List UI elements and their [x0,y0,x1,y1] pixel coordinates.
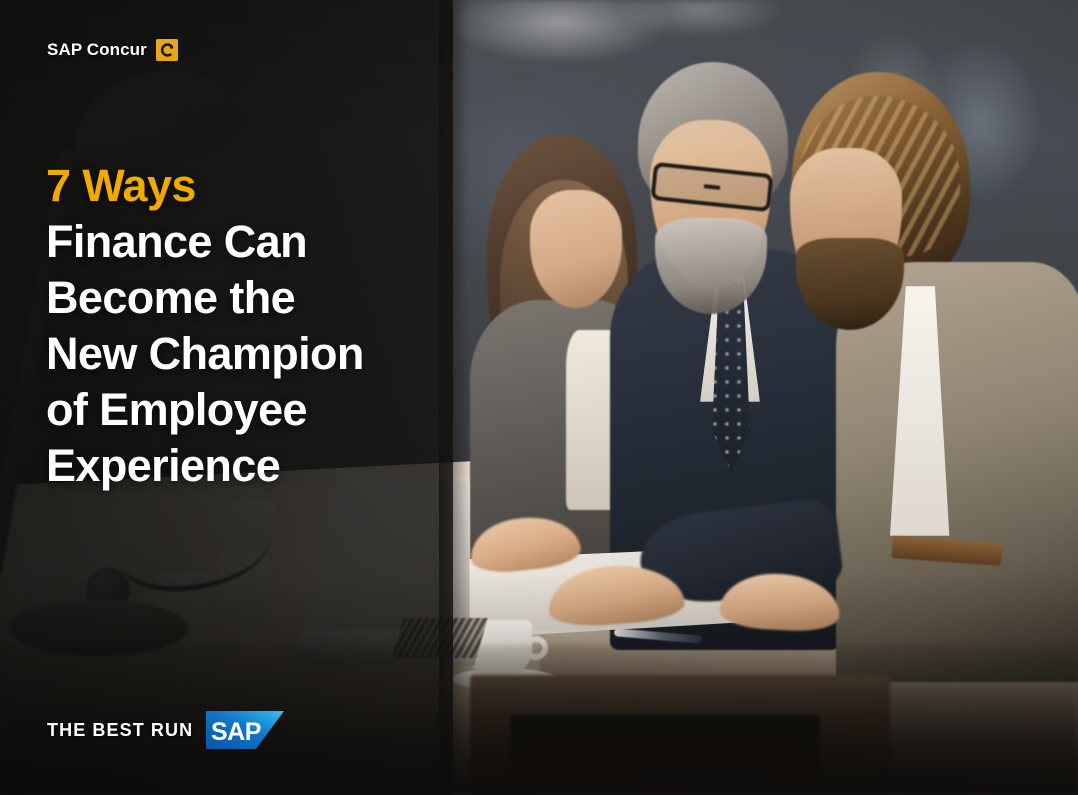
headline-line-2: Become the [46,270,436,326]
page-title: 7 Ways Finance Can Become the New Champi… [46,158,436,494]
brand-lockup: SAP Concur [47,39,178,61]
footer-lockup: THE BEST RUN SAP [47,711,284,749]
headline-line-4: of Employee [46,382,436,438]
headline-line-5: Experience [46,438,436,494]
ebook-cover: SAP Concur 7 Ways Finance Can Become the… [0,0,1078,795]
brand-name: SAP Concur [47,40,147,60]
sap-logo-icon: SAP [206,711,284,749]
tagline: THE BEST RUN [47,720,193,741]
concur-c-icon [156,39,178,61]
headline-line-1: Finance Can [46,214,436,270]
svg-text:SAP: SAP [211,718,261,746]
headline-line-3: New Champion [46,326,436,382]
cover-content: SAP Concur 7 Ways Finance Can Become the… [0,0,1078,795]
headline-accent-line: 7 Ways [46,158,436,214]
